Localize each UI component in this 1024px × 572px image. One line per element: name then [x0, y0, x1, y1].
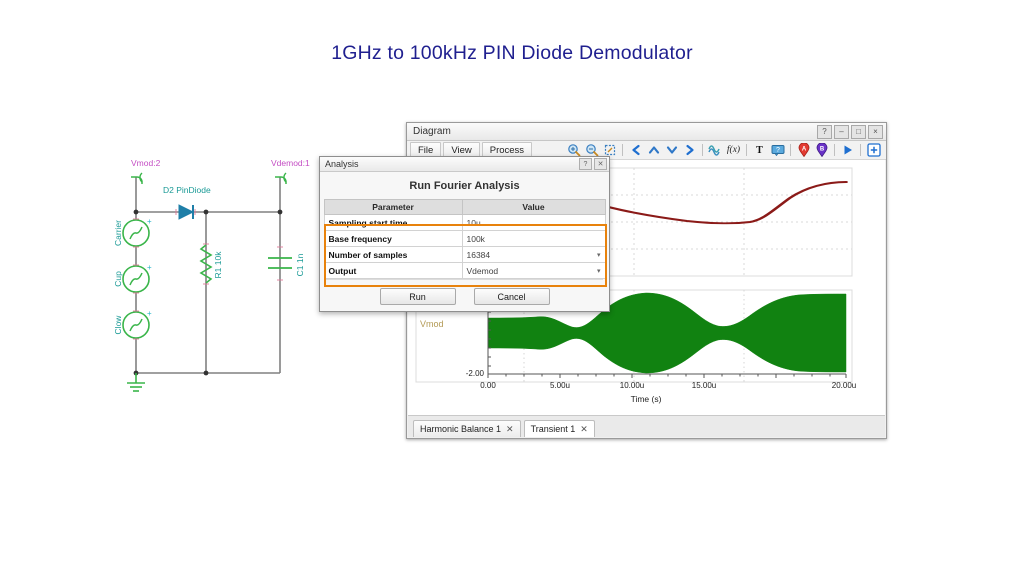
- analysis-dialog[interactable]: Analysis ? ✕ Run Fourier Analysis Parame…: [319, 156, 610, 312]
- tab-harmonic-balance-1[interactable]: Harmonic Balance 1 ✕: [413, 420, 521, 437]
- dialog-close-button[interactable]: ✕: [594, 158, 607, 170]
- column-header-parameter: Parameter: [324, 200, 462, 215]
- dialog-help-button[interactable]: ?: [579, 158, 592, 170]
- cancel-button[interactable]: Cancel: [474, 288, 550, 305]
- table-row[interactable]: Base frequency 100k: [324, 231, 605, 247]
- xtick-label-1: 5.00u: [550, 381, 570, 390]
- xtick-label-3: 15.00u: [692, 381, 716, 390]
- ytick-label-0: -2.00: [466, 369, 485, 378]
- marker-a-icon[interactable]: A: [796, 143, 811, 158]
- maximize-button[interactable]: □: [851, 125, 866, 139]
- tab-close-icon[interactable]: ✕: [580, 424, 588, 435]
- toolbar-separator: [622, 144, 623, 156]
- diode-label: D2 PinDiode: [163, 185, 211, 195]
- series-annotation-vmod: Vmod: [420, 319, 444, 329]
- chevron-down-icon[interactable]: ▾: [597, 251, 601, 259]
- svg-text:?: ?: [776, 147, 780, 154]
- param-value-text: 16384: [467, 250, 491, 260]
- dialog-divider: [326, 279, 603, 280]
- svg-text:+: +: [147, 263, 152, 272]
- xtick-label-2: 10.00u: [620, 381, 644, 390]
- toolbar-separator: [860, 144, 861, 156]
- vmod-net-label: Vmod:2: [131, 158, 161, 168]
- x-axis-label: Time (s): [631, 394, 662, 404]
- toolbar-separator: [790, 144, 791, 156]
- text-tool-icon[interactable]: T: [752, 143, 767, 158]
- source-label-clow: Clow: [113, 315, 123, 335]
- plot-tabbar[interactable]: Harmonic Balance 1 ✕ Transient 1 ✕: [408, 415, 885, 437]
- run-button[interactable]: Run: [380, 288, 456, 305]
- param-value-sampling-start-time[interactable]: 10u: [462, 215, 605, 231]
- page-title: 1GHz to 100kHz PIN Diode Demodulator: [0, 42, 1024, 65]
- help-button[interactable]: ?: [817, 125, 832, 139]
- chevron-down-icon[interactable]: ▾: [597, 267, 601, 275]
- waveform-icon[interactable]: [708, 143, 723, 158]
- nav-down-icon[interactable]: [664, 143, 679, 158]
- slide-root: 1GHz to 100kHz PIN Diode Demodulator: [0, 0, 1024, 572]
- capacitor-label: C1 1n: [295, 253, 305, 276]
- toolbar-separator: [834, 144, 835, 156]
- tab-transient-1[interactable]: Transient 1 ✕: [524, 420, 595, 437]
- circuit-schematic: + + +: [95, 150, 345, 395]
- nav-right-icon[interactable]: [682, 143, 697, 158]
- source-label-cup: Cup: [113, 271, 123, 287]
- toolbar-separator: [746, 144, 747, 156]
- svg-text:B: B: [819, 146, 824, 152]
- resistor-label: R1 10k: [213, 251, 223, 279]
- function-icon-label: f(x): [727, 145, 740, 155]
- nav-left-icon[interactable]: [628, 143, 643, 158]
- svg-text:A: A: [801, 146, 806, 152]
- analysis-dialog-body: Run Fourier Analysis Parameter Value Sam…: [320, 172, 609, 311]
- dialog-actions[interactable]: Run Cancel: [320, 288, 609, 305]
- parameters-table[interactable]: Parameter Value Sampling start time 10u …: [324, 199, 606, 279]
- function-icon[interactable]: f(x): [726, 143, 741, 158]
- tab-close-icon[interactable]: ✕: [506, 424, 514, 435]
- param-label-sampling-start-time: Sampling start time: [324, 215, 462, 231]
- param-label-base-frequency: Base frequency: [324, 231, 462, 247]
- param-value-base-frequency[interactable]: 100k: [462, 231, 605, 247]
- param-label-number-of-samples: Number of samples: [324, 247, 462, 263]
- svg-text:+: +: [147, 309, 152, 318]
- diagram-titlebar[interactable]: Diagram ? – □ ×: [407, 123, 886, 141]
- param-value-number-of-samples[interactable]: 16384 ▾: [462, 247, 605, 263]
- param-value-text: Vdemod: [467, 266, 499, 276]
- svg-text:+: +: [147, 217, 152, 226]
- table-row[interactable]: Sampling start time 10u: [324, 215, 605, 231]
- tab-label: Transient 1: [531, 424, 576, 434]
- run-icon[interactable]: [840, 143, 855, 158]
- analysis-dialog-titlebar[interactable]: Analysis ? ✕: [320, 157, 609, 172]
- tab-label: Harmonic Balance 1: [420, 424, 501, 434]
- analysis-dialog-title: Analysis: [325, 159, 577, 169]
- table-row[interactable]: Number of samples 16384 ▾: [324, 247, 605, 263]
- text-tool-icon-label: T: [756, 145, 763, 156]
- param-value-output[interactable]: Vdemod ▾: [462, 263, 605, 279]
- close-button[interactable]: ×: [868, 125, 883, 139]
- add-plot-icon[interactable]: [866, 143, 881, 158]
- table-header-row: Parameter Value: [324, 200, 605, 215]
- xtick-label-0: 0.00: [480, 381, 496, 390]
- window-controls[interactable]: ? – □ ×: [817, 125, 883, 139]
- diagram-toolbar[interactable]: f(x) T ? A: [566, 143, 886, 158]
- column-header-value: Value: [462, 200, 605, 215]
- marker-b-icon[interactable]: B: [814, 143, 829, 158]
- table-row[interactable]: Output Vdemod ▾: [324, 263, 605, 279]
- nav-up-icon[interactable]: [646, 143, 661, 158]
- source-label-carrier: Carrier: [113, 220, 123, 246]
- analysis-dialog-heading: Run Fourier Analysis: [320, 172, 609, 199]
- xtick-label-4: 20.00u: [832, 381, 856, 390]
- toolbar-separator: [702, 144, 703, 156]
- param-label-output: Output: [324, 263, 462, 279]
- legend-icon[interactable]: ?: [770, 143, 785, 158]
- diagram-window-title: Diagram: [413, 126, 817, 137]
- minimize-button[interactable]: –: [834, 125, 849, 139]
- vdemod-net-label: Vdemod:1: [271, 158, 310, 168]
